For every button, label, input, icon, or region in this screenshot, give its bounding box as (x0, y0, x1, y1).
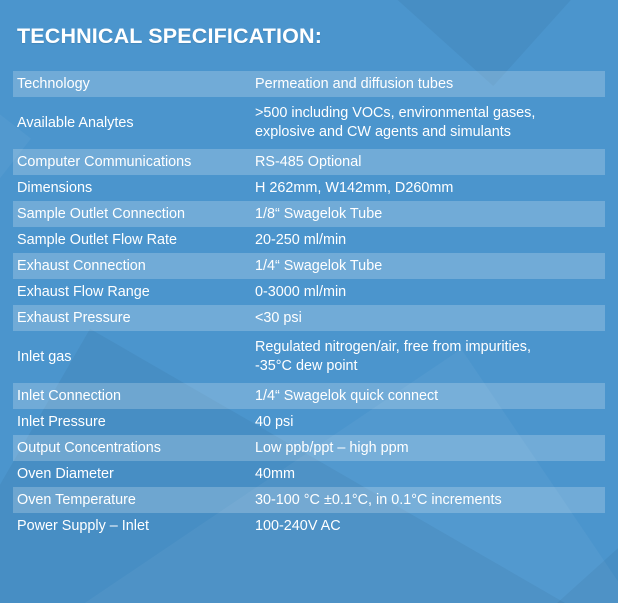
table-row: Inlet Connection1/4“ Swagelok quick conn… (13, 383, 605, 409)
table-row: DimensionsH 262mm, W142mm, D260mm (13, 175, 605, 201)
table-row: Exhaust Flow Range0-3000 ml/min (13, 279, 605, 305)
spec-label: Sample Outlet Connection (13, 205, 255, 224)
spec-label: Exhaust Pressure (13, 309, 255, 328)
spec-value: 1/4“ Swagelok quick connect (255, 387, 605, 406)
spec-label: Inlet gas (13, 348, 255, 367)
spec-label: Inlet Connection (13, 387, 255, 406)
spec-value: 20-250 ml/min (255, 231, 605, 250)
table-row: Oven Diameter40mm (13, 461, 605, 487)
spec-value: 30-100 °C ±0.1°C, in 0.1°C increments (255, 491, 605, 510)
spec-value: <30 psi (255, 309, 605, 328)
spec-value: 0-3000 ml/min (255, 283, 605, 302)
specification-table: TechnologyPermeation and diffusion tubes… (13, 71, 605, 539)
spec-label: Output Concentrations (13, 439, 255, 458)
spec-label: Exhaust Connection (13, 257, 255, 276)
spec-value: 40mm (255, 465, 605, 484)
spec-value: Regulated nitrogen/air, free from impuri… (255, 338, 605, 376)
table-row: Sample Outlet Flow Rate20-250 ml/min (13, 227, 605, 253)
spec-label: Technology (13, 75, 255, 94)
table-row: Sample Outlet Connection1/8“ Swagelok Tu… (13, 201, 605, 227)
table-row: Exhaust Connection1/4“ Swagelok Tube (13, 253, 605, 279)
spec-value: Low ppb/ppt – high ppm (255, 439, 605, 458)
table-row: Inlet gasRegulated nitrogen/air, free fr… (13, 331, 605, 383)
table-row: Available Analytes>500 including VOCs, e… (13, 97, 605, 149)
spec-label: Exhaust Flow Range (13, 283, 255, 302)
table-row: Power Supply – Inlet100-240V AC (13, 513, 605, 539)
spec-label: Computer Communications (13, 153, 255, 172)
table-row: Output ConcentrationsLow ppb/ppt – high … (13, 435, 605, 461)
spec-value: 40 psi (255, 413, 605, 432)
spec-label: Oven Temperature (13, 491, 255, 510)
spec-value: RS-485 Optional (255, 153, 605, 172)
spec-value: 1/4“ Swagelok Tube (255, 257, 605, 276)
page-title: TECHNICAL SPECIFICATION: (17, 24, 322, 49)
table-row: Oven Temperature30-100 °C ±0.1°C, in 0.1… (13, 487, 605, 513)
table-row: Exhaust Pressure<30 psi (13, 305, 605, 331)
spec-value: 100-240V AC (255, 517, 605, 536)
table-row: TechnologyPermeation and diffusion tubes (13, 71, 605, 97)
table-row: Computer CommunicationsRS-485 Optional (13, 149, 605, 175)
spec-label: Available Analytes (13, 114, 255, 133)
spec-label: Sample Outlet Flow Rate (13, 231, 255, 250)
spec-label: Oven Diameter (13, 465, 255, 484)
spec-label: Power Supply – Inlet (13, 517, 255, 536)
spec-value: >500 including VOCs, environmental gases… (255, 104, 605, 142)
spec-value: H 262mm, W142mm, D260mm (255, 179, 605, 198)
spec-sheet: TECHNICAL SPECIFICATION: TechnologyPerme… (0, 0, 618, 603)
table-row: Inlet Pressure40 psi (13, 409, 605, 435)
spec-label: Dimensions (13, 179, 255, 198)
spec-value: 1/8“ Swagelok Tube (255, 205, 605, 224)
spec-value: Permeation and diffusion tubes (255, 75, 605, 94)
spec-label: Inlet Pressure (13, 413, 255, 432)
